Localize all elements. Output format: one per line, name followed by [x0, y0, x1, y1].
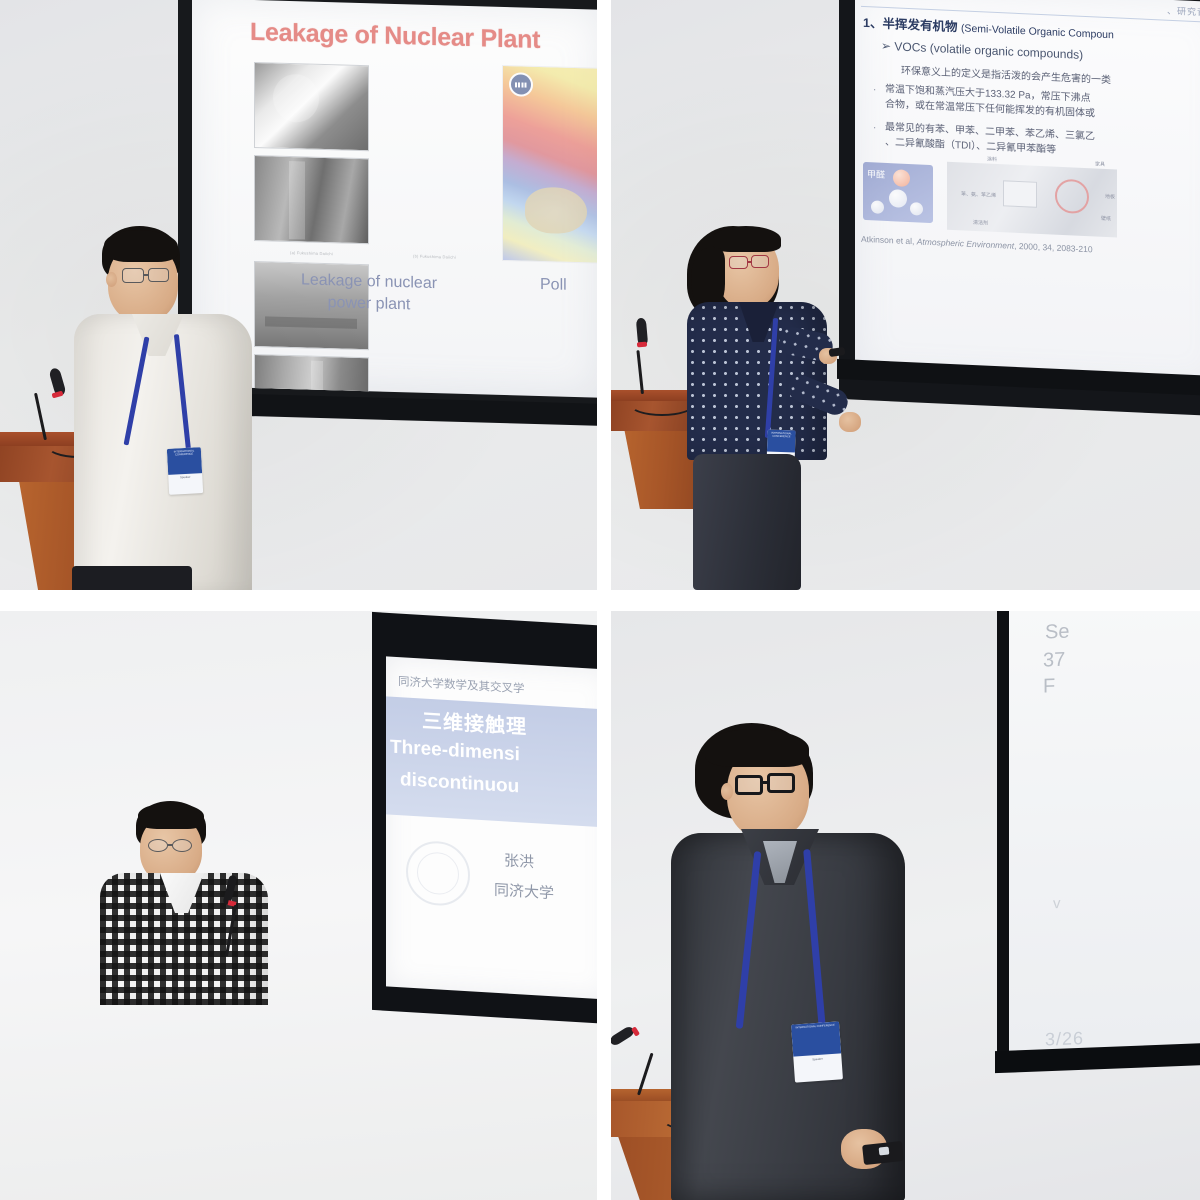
hydrogen-atom	[910, 202, 923, 216]
australia-landmass	[525, 187, 587, 235]
presenter: INTERNATIONAL CONFERENCE Speaker	[671, 723, 971, 1200]
presenter-affiliation: 同济大学	[494, 879, 554, 904]
slide-bullet-1: 常温下饱和蒸汽压大于133.32 Pa，常压下沸点 合物，或在常温常压下任何能挥…	[885, 83, 1200, 127]
slide-caption-right: Poll	[540, 276, 567, 295]
glasses-bridge	[747, 261, 752, 263]
diagram-label: 清洁剂	[973, 219, 988, 227]
formaldehyde-molecule-diagram: 甲醛	[863, 162, 933, 223]
slide-photo-caption: (b) Fukushima Daiichi	[377, 252, 492, 260]
presenter-name: 张洪	[504, 849, 534, 872]
photo-panel-bottom-right[interactable]: Se 37 F v 3/26	[611, 611, 1200, 1200]
hair-fringe	[705, 729, 809, 767]
glasses-bridge	[143, 274, 149, 276]
noaa-logo-icon	[509, 72, 533, 97]
collage-grid: Leakage of Nuclear Plant (a) Fukushima D…	[0, 0, 1200, 1200]
ear	[721, 783, 733, 800]
badge-name: Speaker	[169, 474, 201, 480]
diagram-label: 涂料	[987, 156, 997, 163]
name-badge: INTERNATIONAL CONFERENCE Speaker	[791, 1021, 843, 1082]
highlight-circle	[1055, 179, 1089, 215]
glasses-right-lens	[751, 255, 769, 268]
glasses-right-lens	[148, 268, 169, 282]
carbon-atom	[889, 189, 907, 208]
projection-screen-surface: 同济大学数学及其交叉学 三维接触理 Three-dimensi disconti…	[386, 656, 597, 999]
projection-screen-surface: Se 37 F v 3/26	[1009, 611, 1200, 1053]
slide-bullet-2: 最常见的有苯、甲苯、二甲苯、苯乙烯、三氯乙 、二异氰酸酯（TDI）、二异氰甲苯酯…	[885, 121, 1200, 165]
presenter: INTERNATIONAL CONFERENCE Speaker	[72, 226, 292, 590]
presenter	[108, 801, 328, 1031]
slide-line-3: F	[1043, 675, 1055, 698]
oxygen-atom	[893, 169, 910, 187]
slide-subtext: 环保意义上的定义是指活泼的会产生危害的一类	[901, 62, 1111, 87]
hair-top	[104, 230, 178, 262]
monitor-shape	[1003, 180, 1037, 208]
trousers	[72, 566, 192, 590]
glasses-right-lens	[767, 773, 795, 793]
trousers	[693, 454, 801, 590]
presentation-clicker	[829, 347, 846, 357]
glasses-right-lens	[172, 839, 192, 852]
hair-top	[138, 803, 204, 829]
indoor-source-diagram	[947, 162, 1117, 238]
diagram-label: 壁纸	[1101, 215, 1111, 222]
glasses-left-lens	[122, 268, 144, 283]
clicker-button[interactable]	[879, 1146, 890, 1155]
diagram-label: 地板	[1105, 193, 1115, 200]
hand	[839, 412, 861, 432]
hydrogen-atom	[871, 200, 884, 214]
slide-line-1: Se	[1045, 621, 1069, 645]
slide-organization: 同济大学数学及其交叉学	[398, 673, 525, 697]
slide-line-4: v	[1053, 895, 1061, 912]
name-badge: INTERNATIONAL CONFERENCE Speaker	[167, 447, 203, 495]
slide-bullet-voc: ➢ VOCs (volatile organic compounds)	[881, 39, 1083, 62]
badge-title: INTERNATIONAL CONFERENCE	[768, 432, 794, 439]
glasses-left-lens	[735, 775, 763, 795]
photo-panel-top-left[interactable]: Leakage of Nuclear Plant (a) Fukushima D…	[0, 0, 597, 590]
glasses-bridge	[167, 844, 173, 846]
photo-panel-top-right[interactable]: 、研究背景 1、半挥发有机物 (Semi-Volatile Organic Co…	[611, 0, 1200, 590]
ear	[106, 272, 117, 287]
noaa-ocean-map	[502, 65, 597, 264]
slide-line-2: 37	[1043, 649, 1065, 673]
slide-title: Leakage of Nuclear Plant	[250, 18, 580, 56]
diagram-label: 家具	[1095, 160, 1105, 167]
molecule-label: 甲醛	[867, 167, 885, 181]
university-seal	[406, 840, 470, 908]
glasses-left-lens	[148, 839, 168, 852]
glasses-bridge	[762, 781, 769, 784]
photo-panel-bottom-left[interactable]: 同济大学数学及其交叉学 三维接触理 Three-dimensi disconti…	[0, 611, 597, 1200]
presenter: INTERNATIONAL CONFERENCE Speaker	[687, 222, 947, 590]
slide-photo	[254, 62, 369, 151]
slide-title-cn: 三维接触理	[422, 704, 527, 739]
hair-fringe	[713, 226, 781, 252]
slide-header: 、研究背景	[1167, 4, 1200, 19]
glasses-left-lens	[729, 256, 748, 269]
